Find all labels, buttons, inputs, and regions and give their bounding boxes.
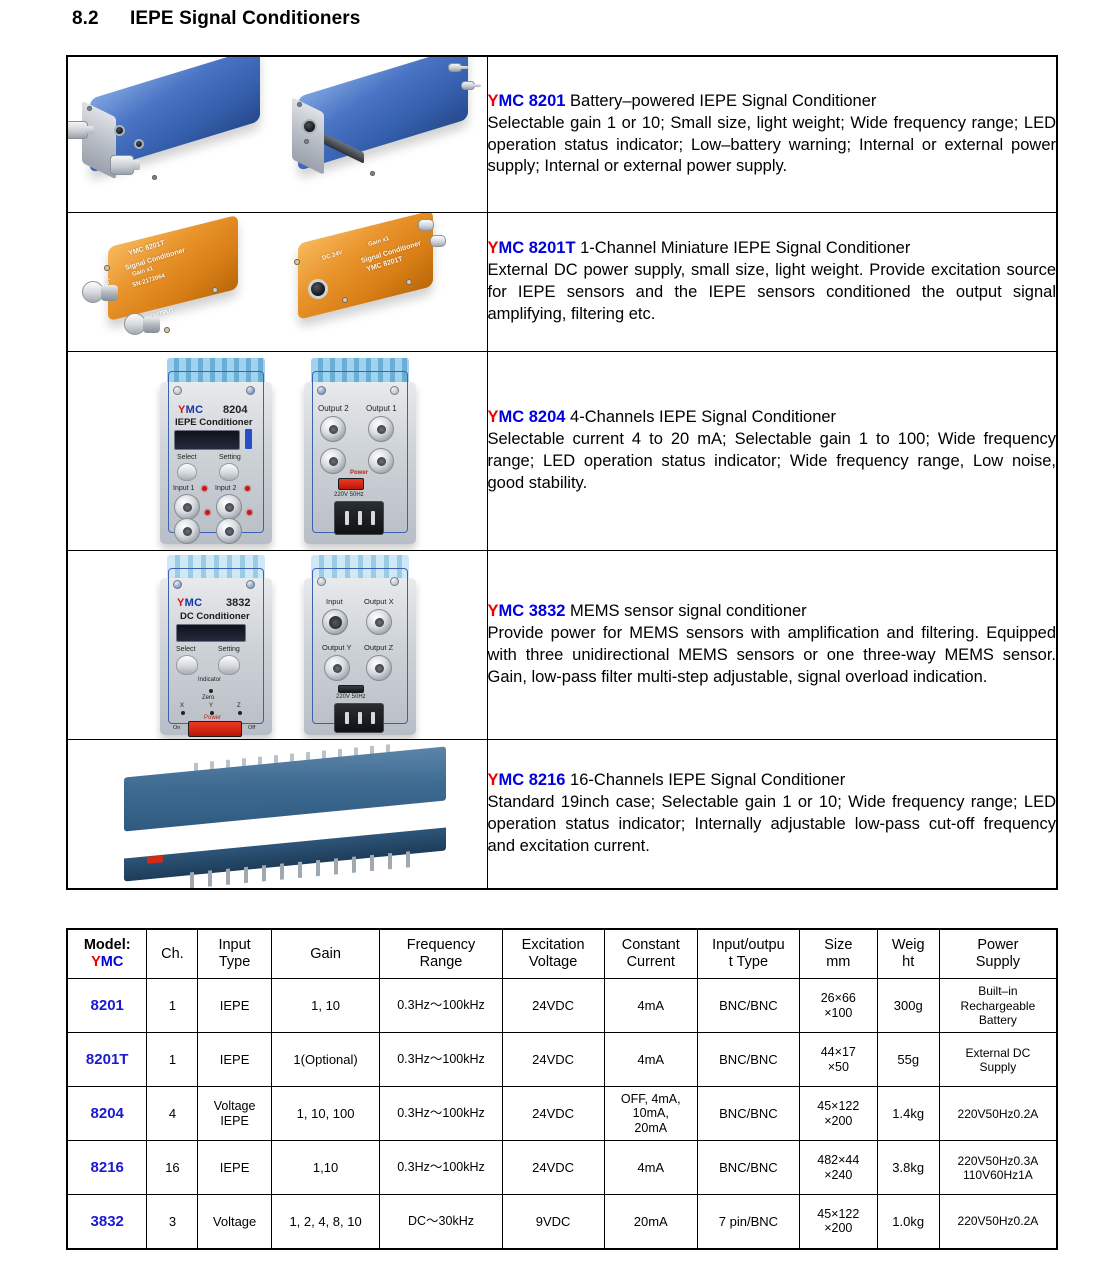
cell-weight: 300g bbox=[877, 979, 939, 1033]
spec-header-weight: Weight bbox=[877, 929, 939, 979]
cell-ch: 1 bbox=[147, 1033, 198, 1087]
cell-io-type: 7 pin/BNC bbox=[697, 1195, 799, 1249]
spec-header-ch: Ch. bbox=[147, 929, 198, 979]
product-text-8201: YMC 8201 Battery–powered IEPE Signal Con… bbox=[487, 56, 1057, 213]
iec-socket-8204[interactable] bbox=[334, 501, 384, 535]
cell-size: 45×122×200 bbox=[799, 1195, 877, 1249]
spec-body: 8201 1 IEPE 1, 10 0.3Hz～100kHz 24VDC 4mA… bbox=[67, 979, 1057, 1249]
iec-socket-3832[interactable] bbox=[334, 703, 384, 733]
panel-input1-label-8204: Input 1 bbox=[173, 485, 194, 492]
cell-size: 26×66×100 bbox=[799, 979, 877, 1033]
bnc-input2-8204[interactable] bbox=[216, 494, 242, 520]
knob-setting-8204[interactable] bbox=[219, 463, 239, 481]
cell-ch: 16 bbox=[147, 1141, 198, 1195]
product-desc-8201t: External DC power supply, small size, li… bbox=[488, 260, 1057, 326]
page-title: 8.2IEPE Signal Conditioners bbox=[72, 8, 360, 30]
spec-header-gain: Gain bbox=[271, 929, 380, 979]
cell-input-type: IEPE bbox=[198, 979, 271, 1033]
cell-constant-current: 4mA bbox=[604, 979, 697, 1033]
cell-io-type: BNC/BNC bbox=[697, 1141, 799, 1195]
product-desc-8216: Standard 19inch case; Selectable gain 1 … bbox=[488, 792, 1057, 858]
table-row: 8201T 1 IEPE 1(Optional) 0.3Hz～100kHz 24… bbox=[67, 1033, 1057, 1087]
bnc-output1-8204[interactable] bbox=[368, 416, 394, 442]
spec-header-excitation-voltage: ExcitationVoltage bbox=[502, 929, 604, 979]
section-title: IEPE Signal Conditioners bbox=[130, 8, 360, 29]
panel-brand-3832: YMC bbox=[177, 597, 202, 609]
product-list: YMC 8201 Battery–powered IEPE Signal Con… bbox=[66, 55, 1058, 890]
spec-header-row: Model: YMC Ch. InputType Gain FrequencyR… bbox=[67, 929, 1057, 979]
cell-input-type: Voltage bbox=[198, 1195, 271, 1249]
product-title-8201t: YMC 8201T 1-Channel Miniature IEPE Signa… bbox=[488, 238, 1057, 260]
cell-size: 482×44×240 bbox=[799, 1141, 877, 1195]
panel-knob-label-select-8204: Select bbox=[177, 454, 196, 461]
power-switch-8204[interactable] bbox=[338, 478, 364, 490]
bnc-output-z-3832[interactable] bbox=[366, 655, 392, 681]
panel-outputy-label-3832: Output Y bbox=[322, 643, 351, 652]
panel-power-label-8204: Power bbox=[350, 470, 368, 476]
panel-brand-8204: YMC bbox=[178, 404, 203, 416]
connector-input-3832[interactable] bbox=[322, 609, 348, 635]
product-text-3832: YMC 3832 MEMS sensor signal conditioner … bbox=[487, 551, 1057, 740]
cell-constant-current: 20mA bbox=[604, 1195, 697, 1249]
product-row-8201t: YMC 8201T Signal Conditioner Gain x1 SN:… bbox=[67, 213, 1057, 352]
panel-input-label-3832: Input bbox=[326, 597, 343, 606]
panel-axis-z-3832: Z bbox=[237, 703, 241, 709]
cell-frequency-range: 0.3Hz～100kHz bbox=[380, 979, 502, 1033]
bnc-input1b-8204[interactable] bbox=[174, 518, 200, 544]
cell-size: 45×122×200 bbox=[799, 1087, 877, 1141]
cell-gain: 1(Optional) bbox=[271, 1033, 380, 1087]
cell-io-type: BNC/BNC bbox=[697, 1033, 799, 1087]
bnc-output-x-3832[interactable] bbox=[366, 609, 392, 635]
panel-outputx-label-3832: Output X bbox=[364, 597, 394, 606]
cell-model: 3832 bbox=[67, 1195, 147, 1249]
spec-header-input-type: InputType bbox=[198, 929, 271, 979]
cell-weight: 1.4kg bbox=[877, 1087, 939, 1141]
cell-io-type: BNC/BNC bbox=[697, 1087, 799, 1141]
cell-gain: 1, 2, 4, 8, 10 bbox=[271, 1195, 380, 1249]
bnc-output2-8204[interactable] bbox=[320, 416, 346, 442]
knob-setting-3832[interactable] bbox=[218, 655, 240, 675]
panel-input2-label-8204: Input 2 bbox=[215, 485, 236, 492]
product-title-8204: YMC 8204 4-Channels IEPE Signal Conditio… bbox=[488, 407, 1057, 429]
panel-subtitle-3832: DC Conditioner bbox=[180, 611, 250, 622]
panel-mains-label-3832: 220V 50Hz bbox=[336, 694, 366, 700]
panel-model-8204: 8204 bbox=[223, 404, 247, 416]
cell-constant-current: 4mA bbox=[604, 1141, 697, 1195]
power-switch-3832[interactable] bbox=[188, 721, 242, 737]
cell-frequency-range: 0.3Hz～100kHz bbox=[380, 1033, 502, 1087]
cell-weight: 1.0kg bbox=[877, 1195, 939, 1249]
cell-power-supply: 220V50Hz0.2A bbox=[939, 1195, 1057, 1249]
bnc-output1b-8204[interactable] bbox=[368, 448, 394, 474]
cell-power-supply: 220V50Hz0.3A110V60Hz1A bbox=[939, 1141, 1057, 1195]
cell-excitation-voltage: 24VDC bbox=[502, 979, 604, 1033]
cell-excitation-voltage: 9VDC bbox=[502, 1195, 604, 1249]
panel-output2-label-8204: Output 2 bbox=[318, 404, 349, 413]
spec-header-model: Model: YMC bbox=[67, 929, 147, 979]
spec-header-size: Sizemm bbox=[799, 929, 877, 979]
cell-excitation-voltage: 24VDC bbox=[502, 1033, 604, 1087]
panel-axis-y-3832: Y bbox=[209, 703, 213, 709]
cell-model: 8201T bbox=[67, 1033, 147, 1087]
knob-select-8204[interactable] bbox=[177, 463, 197, 481]
cell-ch: 4 bbox=[147, 1087, 198, 1141]
product-image-8216 bbox=[67, 740, 487, 890]
cell-gain: 1, 10 bbox=[271, 979, 380, 1033]
table-row: 8216 16 IEPE 1,10 0.3Hz～100kHz 24VDC 4mA… bbox=[67, 1141, 1057, 1195]
product-title-8201: YMC 8201 Battery–powered IEPE Signal Con… bbox=[488, 91, 1057, 113]
cell-excitation-voltage: 24VDC bbox=[502, 1141, 604, 1195]
cell-frequency-range: DC～30kHz bbox=[380, 1195, 502, 1249]
cell-input-type: IEPE bbox=[198, 1033, 271, 1087]
panel-zero-label-3832: Zero bbox=[202, 695, 214, 701]
product-title-8216: YMC 8216 16-Channels IEPE Signal Conditi… bbox=[488, 770, 1057, 792]
product-title-3832: YMC 3832 MEMS sensor signal conditioner bbox=[488, 601, 1057, 623]
spec-header-power-supply: PowerSupply bbox=[939, 929, 1057, 979]
cell-weight: 3.8kg bbox=[877, 1141, 939, 1195]
product-row-8216: YMC 8216 16-Channels IEPE Signal Conditi… bbox=[67, 740, 1057, 890]
product-image-8204: YMC 8204 IEPE Conditioner Select Setting… bbox=[67, 352, 487, 551]
table-row: 3832 3 Voltage 1, 2, 4, 8, 10 DC～30kHz 9… bbox=[67, 1195, 1057, 1249]
cell-ch: 1 bbox=[147, 979, 198, 1033]
product-row-8201: YMC 8201 Battery–powered IEPE Signal Con… bbox=[67, 56, 1057, 213]
bnc-output-y-3832[interactable] bbox=[324, 655, 350, 681]
cell-model: 8216 bbox=[67, 1141, 147, 1195]
fuse-holder-3832[interactable] bbox=[338, 685, 364, 693]
panel-axis-x-3832: X bbox=[180, 703, 184, 709]
specifications-table: Model: YMC Ch. InputType Gain FrequencyR… bbox=[66, 928, 1058, 1250]
spec-header-constant-current: ConstantCurrent bbox=[604, 929, 697, 979]
table-row: 8201 1 IEPE 1, 10 0.3Hz～100kHz 24VDC 4mA… bbox=[67, 979, 1057, 1033]
panel-knob-label-setting-3832: Setting bbox=[218, 646, 240, 653]
table-row: 8204 4 VoltageIEPE 1, 10, 100 0.3Hz～100k… bbox=[67, 1087, 1057, 1141]
cell-ch: 3 bbox=[147, 1195, 198, 1249]
cell-gain: 1, 10, 100 bbox=[271, 1087, 380, 1141]
cell-size: 44×17×50 bbox=[799, 1033, 877, 1087]
product-text-8216: YMC 8216 16-Channels IEPE Signal Conditi… bbox=[487, 740, 1057, 890]
product-desc-8201: Selectable gain 1 or 10; Small size, lig… bbox=[488, 113, 1057, 179]
cell-constant-current: OFF, 4mA,10mA,20mA bbox=[604, 1087, 697, 1141]
cell-excitation-voltage: 24VDC bbox=[502, 1087, 604, 1141]
cell-input-type: IEPE bbox=[198, 1141, 271, 1195]
panel-knob-label-setting-8204: Setting bbox=[219, 454, 241, 461]
product-image-3832: YMC 3832 DC Conditioner Select Setting I… bbox=[67, 551, 487, 740]
panel-outputz-label-3832: Output Z bbox=[364, 643, 393, 652]
panel-power-off-3832: Off bbox=[248, 725, 255, 731]
product-text-8204: YMC 8204 4-Channels IEPE Signal Conditio… bbox=[487, 352, 1057, 551]
spec-header-io-type: Input/output Type bbox=[697, 929, 799, 979]
cell-weight: 55g bbox=[877, 1033, 939, 1087]
cell-power-supply: Built–inRechargeableBattery bbox=[939, 979, 1057, 1033]
cell-power-supply: 220V50Hz0.2A bbox=[939, 1087, 1057, 1141]
panel-subtitle-8204: IEPE Conditioner bbox=[175, 417, 253, 428]
product-row-3832: YMC 3832 DC Conditioner Select Setting I… bbox=[67, 551, 1057, 740]
panel-overload-label-3832: Indicator bbox=[198, 677, 221, 683]
panel-output1-label-8204: Output 1 bbox=[366, 404, 397, 413]
bnc-input2b-8204[interactable] bbox=[216, 518, 242, 544]
product-image-8201t: YMC 8201T Signal Conditioner Gain x1 SN:… bbox=[67, 213, 487, 352]
cell-io-type: BNC/BNC bbox=[697, 979, 799, 1033]
panel-power-on-3832: On bbox=[173, 725, 180, 731]
section-number: 8.2 bbox=[72, 8, 130, 30]
panel-knob-label-select-3832: Select bbox=[176, 646, 195, 653]
product-desc-3832: Provide power for MEMS sensors with ampl… bbox=[488, 623, 1057, 689]
spec-header-frequency-range: FrequencyRange bbox=[380, 929, 502, 979]
product-text-8201t: YMC 8201T 1-Channel Miniature IEPE Signa… bbox=[487, 213, 1057, 352]
bnc-output2b-8204[interactable] bbox=[320, 448, 346, 474]
knob-select-3832[interactable] bbox=[176, 655, 198, 675]
brand-mc-letters: MC bbox=[101, 954, 124, 970]
panel-mains-label-8204: 220V 50Hz bbox=[334, 492, 364, 498]
cell-constant-current: 4mA bbox=[604, 1033, 697, 1087]
bnc-input1-8204[interactable] bbox=[174, 494, 200, 520]
cell-model: 8201 bbox=[67, 979, 147, 1033]
panel-model-3832: 3832 bbox=[226, 597, 250, 609]
product-desc-8204: Selectable current 4 to 20 mA; Selectabl… bbox=[488, 429, 1057, 495]
product-row-8204: YMC 8204 IEPE Conditioner Select Setting… bbox=[67, 352, 1057, 551]
cell-model: 8204 bbox=[67, 1087, 147, 1141]
cell-input-type: VoltageIEPE bbox=[198, 1087, 271, 1141]
product-image-8201 bbox=[67, 56, 487, 213]
brand-y-letter: Y bbox=[91, 954, 101, 970]
cell-power-supply: External DCSupply bbox=[939, 1033, 1057, 1087]
cell-gain: 1,10 bbox=[271, 1141, 380, 1195]
cell-frequency-range: 0.3Hz～100kHz bbox=[380, 1087, 502, 1141]
cell-frequency-range: 0.3Hz～100kHz bbox=[380, 1141, 502, 1195]
